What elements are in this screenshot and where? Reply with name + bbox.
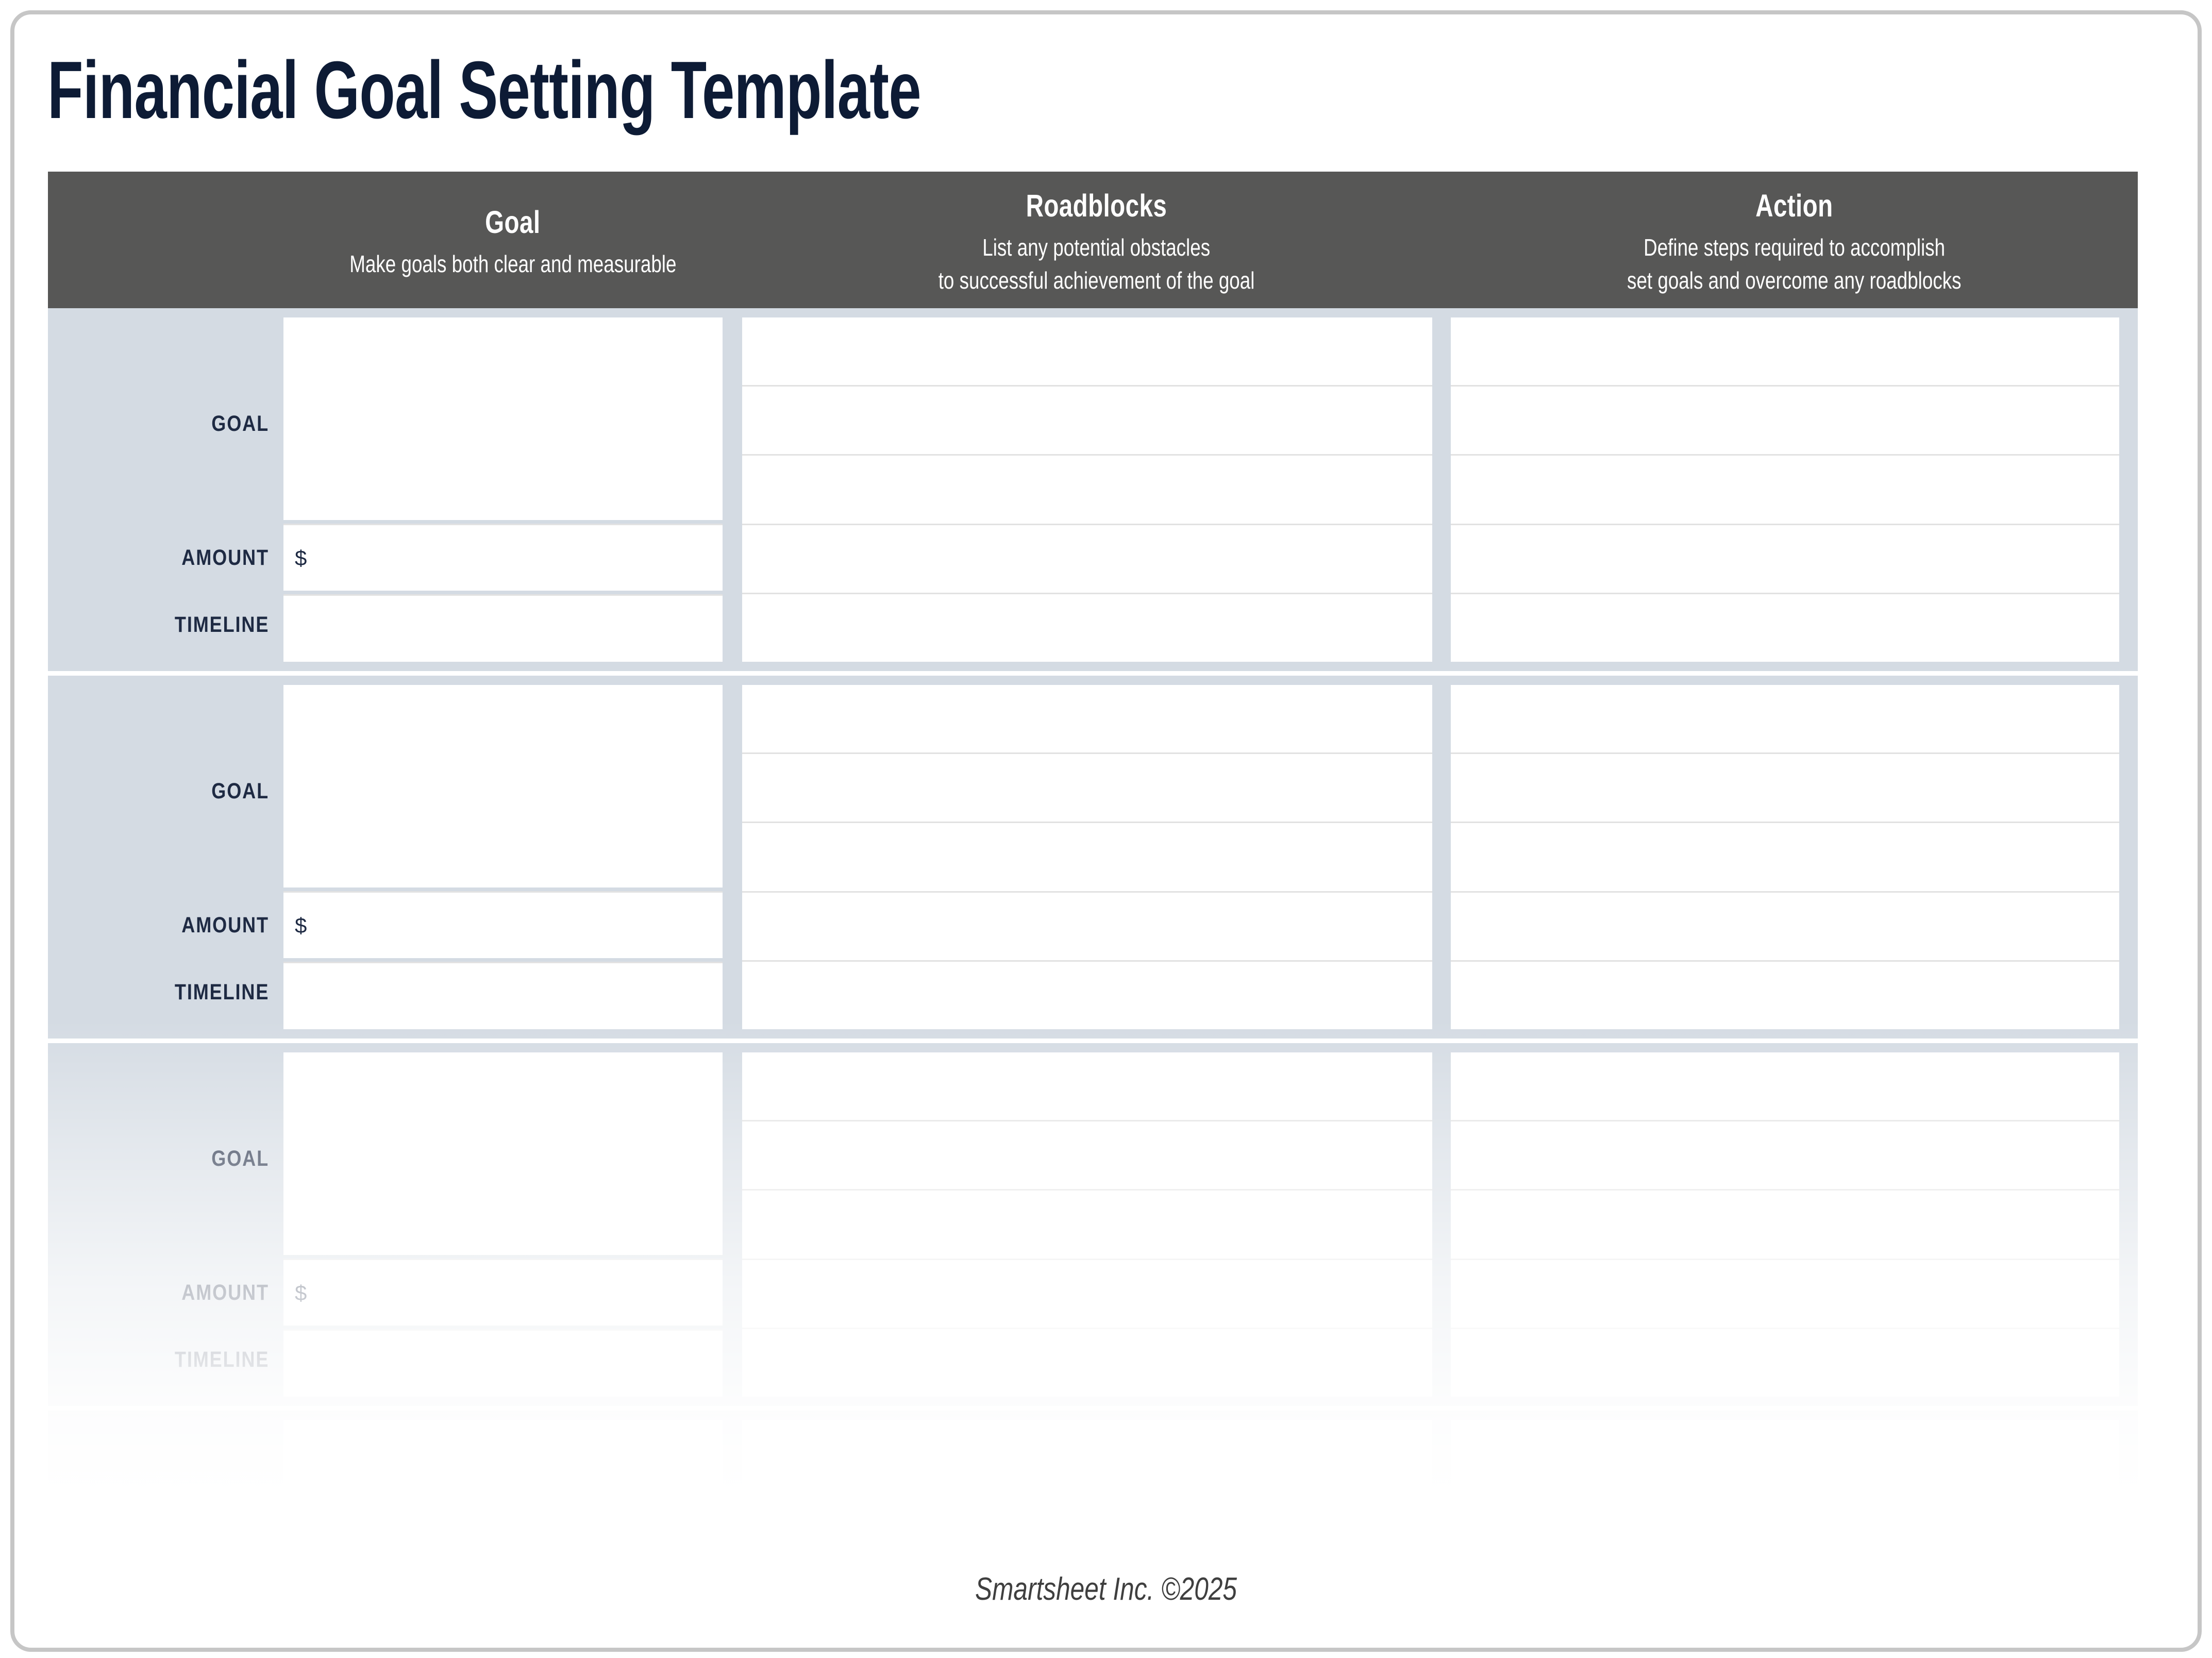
action-input[interactable] bbox=[1451, 1328, 2119, 1397]
roadblock-input[interactable] bbox=[742, 752, 1432, 822]
goal-column-cells: $ bbox=[283, 317, 742, 662]
goal-block: GOAL AMOUNT TIMELINE $ bbox=[48, 1039, 2138, 1406]
action-column-cells bbox=[1451, 317, 2138, 662]
row-label-timeline: TIMELINE bbox=[175, 1347, 269, 1372]
action-input[interactable] bbox=[1451, 960, 2119, 1029]
action-input[interactable] bbox=[1451, 385, 2119, 454]
timeline-input[interactable] bbox=[283, 962, 723, 1029]
page-title: Financial Goal Setting Template bbox=[47, 41, 1309, 139]
action-input[interactable] bbox=[1451, 685, 2119, 752]
amount-input[interactable]: $ bbox=[283, 524, 723, 591]
roadblock-input[interactable] bbox=[742, 317, 1432, 385]
goal-block bbox=[48, 1406, 2138, 1561]
roadblocks-column-cells bbox=[742, 1420, 1451, 1561]
goal-column-cells: $ bbox=[283, 1052, 742, 1397]
table-body: GOAL AMOUNT TIMELINE $ bbox=[48, 308, 2138, 1561]
roadblock-input[interactable] bbox=[742, 1259, 1432, 1328]
action-input[interactable] bbox=[1451, 1556, 2119, 1561]
header-subtitle-goal-line1: Make goals both clear and measurable bbox=[349, 247, 676, 280]
header-cell-goal: Goal Make goals both clear and measurabl… bbox=[283, 172, 742, 308]
action-column-cells bbox=[1451, 685, 2138, 1029]
row-label-timeline: TIMELINE bbox=[175, 980, 269, 1005]
goal-setting-table: Goal Make goals both clear and measurabl… bbox=[48, 172, 2138, 1561]
amount-input[interactable]: $ bbox=[283, 1259, 723, 1326]
action-input[interactable] bbox=[1451, 752, 2119, 822]
header-subtitle-action-line2: set goals and overcome any roadblocks bbox=[1627, 264, 1961, 297]
roadblock-input[interactable] bbox=[742, 593, 1432, 662]
goal-block-labels: GOAL AMOUNT TIMELINE bbox=[48, 685, 283, 1029]
row-label-goal: GOAL bbox=[211, 411, 269, 437]
roadblock-input[interactable] bbox=[742, 1120, 1432, 1189]
row-label-amount: AMOUNT bbox=[181, 913, 269, 938]
action-input[interactable] bbox=[1451, 317, 2119, 385]
roadblock-input[interactable] bbox=[742, 1420, 1432, 1487]
goal-input[interactable] bbox=[283, 1052, 723, 1255]
roadblock-input[interactable] bbox=[742, 685, 1432, 752]
roadblock-input[interactable] bbox=[742, 1556, 1432, 1561]
header-cell-roadblocks: Roadblocks List any potential obstacles … bbox=[742, 172, 1451, 308]
action-input[interactable] bbox=[1451, 1120, 2119, 1189]
goal-column-cells bbox=[283, 1420, 742, 1561]
goal-block-labels: GOAL AMOUNT TIMELINE bbox=[48, 317, 283, 662]
header-title-roadblocks: Roadblocks bbox=[1026, 188, 1167, 224]
row-label-amount: AMOUNT bbox=[181, 545, 269, 571]
header-title-action: Action bbox=[1755, 188, 1833, 224]
timeline-input[interactable] bbox=[283, 1329, 723, 1397]
roadblock-input[interactable] bbox=[742, 524, 1432, 593]
goal-input[interactable] bbox=[283, 685, 723, 887]
row-label-amount: AMOUNT bbox=[181, 1280, 269, 1305]
roadblock-input[interactable] bbox=[742, 1052, 1432, 1120]
goal-input[interactable] bbox=[283, 1420, 723, 1561]
currency-symbol: $ bbox=[295, 546, 307, 571]
goal-block-labels bbox=[48, 1420, 283, 1561]
header-title-goal: Goal bbox=[485, 204, 540, 240]
header-subtitle-action-line1: Define steps required to accomplish bbox=[1644, 231, 1945, 264]
currency-symbol: $ bbox=[295, 1281, 307, 1305]
header-cell-action: Action Define steps required to accompli… bbox=[1451, 172, 2138, 308]
action-input[interactable] bbox=[1451, 822, 2119, 891]
footer-copyright: Smartsheet Inc. ©2025 bbox=[233, 1571, 1980, 1607]
action-input[interactable] bbox=[1451, 1052, 2119, 1120]
roadblocks-column-cells bbox=[742, 317, 1451, 662]
action-input[interactable] bbox=[1451, 524, 2119, 593]
goal-block: GOAL AMOUNT TIMELINE $ bbox=[48, 671, 2138, 1039]
action-column-cells bbox=[1451, 1052, 2138, 1397]
goal-column-cells: $ bbox=[283, 685, 742, 1029]
action-input[interactable] bbox=[1451, 593, 2119, 662]
row-label-timeline: TIMELINE bbox=[175, 612, 269, 638]
roadblock-input[interactable] bbox=[742, 385, 1432, 454]
action-input[interactable] bbox=[1451, 454, 2119, 523]
roadblock-input[interactable] bbox=[742, 822, 1432, 891]
roadblock-input[interactable] bbox=[742, 1487, 1432, 1556]
currency-symbol: $ bbox=[295, 913, 307, 938]
goal-block: GOAL AMOUNT TIMELINE $ bbox=[48, 308, 2138, 671]
action-input[interactable] bbox=[1451, 1420, 2119, 1487]
roadblocks-column-cells bbox=[742, 685, 1451, 1029]
template-page: Financial Goal Setting Template Goal Mak… bbox=[10, 10, 2202, 1652]
amount-input[interactable]: $ bbox=[283, 891, 723, 958]
header-cell-labels bbox=[48, 172, 283, 308]
roadblock-input[interactable] bbox=[742, 454, 1432, 523]
row-label-goal: GOAL bbox=[211, 779, 269, 804]
timeline-input[interactable] bbox=[283, 594, 723, 662]
goal-block-labels: GOAL AMOUNT TIMELINE bbox=[48, 1052, 283, 1397]
roadblock-input[interactable] bbox=[742, 1328, 1432, 1397]
roadblocks-column-cells bbox=[742, 1052, 1451, 1397]
action-column-cells bbox=[1451, 1420, 2138, 1561]
goal-input[interactable] bbox=[283, 317, 723, 520]
action-input[interactable] bbox=[1451, 1259, 2119, 1328]
row-label-goal: GOAL bbox=[211, 1146, 269, 1171]
header-subtitle-roadblocks-line2: to successful achievement of the goal bbox=[939, 264, 1255, 297]
roadblock-input[interactable] bbox=[742, 1189, 1432, 1258]
action-input[interactable] bbox=[1451, 1189, 2119, 1258]
action-input[interactable] bbox=[1451, 891, 2119, 960]
action-input[interactable] bbox=[1451, 1487, 2119, 1556]
roadblock-input[interactable] bbox=[742, 891, 1432, 960]
header-subtitle-roadblocks-line1: List any potential obstacles bbox=[983, 231, 1211, 264]
table-header-row: Goal Make goals both clear and measurabl… bbox=[48, 172, 2138, 308]
roadblock-input[interactable] bbox=[742, 960, 1432, 1029]
